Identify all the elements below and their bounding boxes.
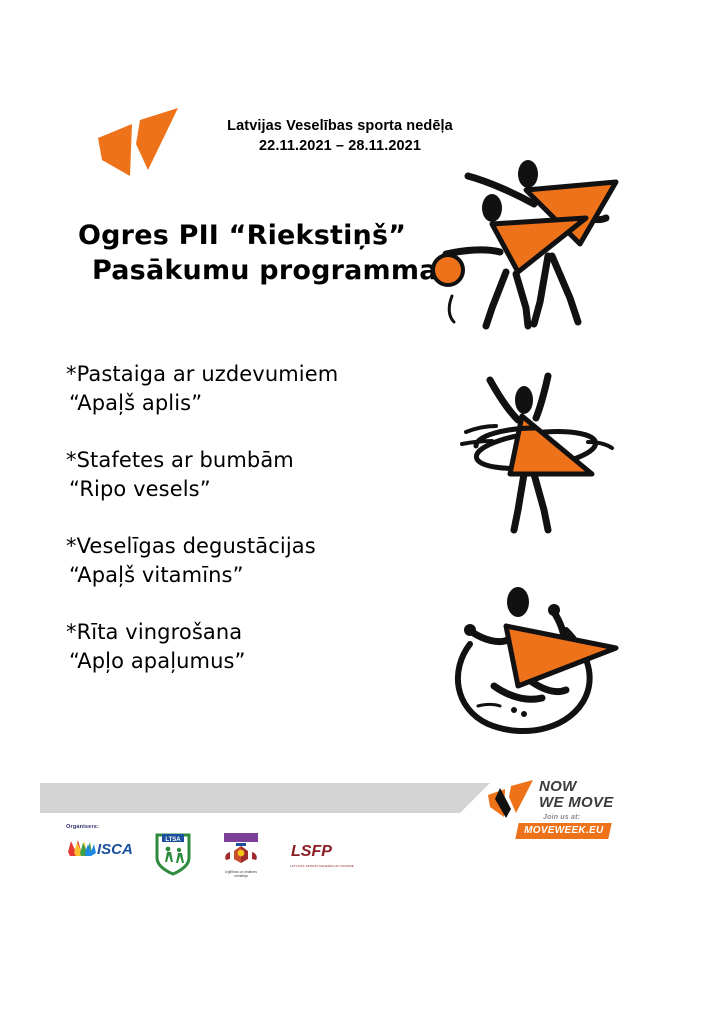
event-title: Latvijas Veselības sporta nedēļa <box>190 116 490 136</box>
organisers-row: ISCA LTSA <box>66 832 356 876</box>
activity-name: *Veselīgas degustācijas <box>66 532 436 561</box>
list-item: *Rīta vingrošana “Apļo apaļumus” <box>66 618 436 676</box>
page-title-line1: Ogres PII “Riekstiņš” <box>78 218 478 253</box>
nwm-line1: NOW <box>539 779 614 795</box>
two-figures-with-ball-illustration <box>430 152 622 332</box>
now-we-move-logo: NOW WE MOVE Join us at: MOVEWEEK.EU <box>487 777 619 843</box>
join-us-label: Join us at: <box>543 814 580 821</box>
organisers-label: Organisers: <box>66 824 356 830</box>
activity-name: *Pastaiga ar uzdevumiem <box>66 360 436 389</box>
ministry-logo: Izglītības un zinātnes ministrija <box>210 832 272 876</box>
figure-with-hula-hoop-illustration <box>452 358 617 538</box>
page-title: Ogres PII “Riekstiņš” Pasākumu programma <box>78 218 478 288</box>
activity-name: *Stafetes ar bumbām <box>66 446 436 475</box>
list-item: *Veselīgas degustācijas “Apaļš vitamīns” <box>66 532 436 590</box>
ministry-caption: Izglītības un zinātnes ministrija <box>210 870 272 879</box>
lsfp-caption: LATVIJAS SPORTA FEDERĀCIJU PADOME <box>290 864 356 868</box>
now-we-move-arrow-icon <box>487 779 535 821</box>
svg-text:LSFP: LSFP <box>291 843 332 858</box>
page-title-line2: Pasākumu programma <box>78 253 478 288</box>
ministry-caption-line2: ministrija <box>234 874 247 878</box>
footer-banner <box>40 783 490 813</box>
ministry-caption-line1: Izglītības un zinātnes <box>225 870 257 874</box>
activity-subtitle: “Apļo apaļumus” <box>66 647 436 676</box>
list-item: *Stafetes ar bumbām “Ripo vesels” <box>66 446 436 504</box>
ltsa-logo: LTSA <box>154 832 192 876</box>
lsfp-logo: LSFP LATVIJAS SPORTA FEDERĀCIJU PADOME <box>290 832 356 872</box>
activity-subtitle: “Ripo vesels” <box>66 475 436 504</box>
activity-subtitle: “Apaļš aplis” <box>66 389 436 418</box>
isca-logo: ISCA <box>66 832 136 864</box>
activity-subtitle: “Apaļš vitamīns” <box>66 561 436 590</box>
moveweek-url-text: MOVEWEEK.EU <box>524 825 603 836</box>
event-header: Latvijas Veselības sporta nedēļa 22.11.2… <box>190 116 490 156</box>
now-we-move-wordmark: NOW WE MOVE <box>539 779 614 811</box>
svg-text:ISCA: ISCA <box>97 841 133 858</box>
nwm-line2: WE MOVE <box>539 795 614 811</box>
organisers-section: Organisers: ISCA LTSA <box>66 824 356 876</box>
svg-text:LTSA: LTSA <box>165 837 181 843</box>
activity-name: *Rīta vingrošana <box>66 618 436 647</box>
list-item: *Pastaiga ar uzdevumiem “Apaļš aplis” <box>66 360 436 418</box>
now-we-move-arrow-icon <box>96 102 180 184</box>
moveweek-url-badge[interactable]: MOVEWEEK.EU <box>515 823 612 839</box>
activity-list: *Pastaiga ar uzdevumiem “Apaļš aplis” *S… <box>66 360 436 676</box>
figure-jumping-rope-illustration <box>448 578 623 743</box>
